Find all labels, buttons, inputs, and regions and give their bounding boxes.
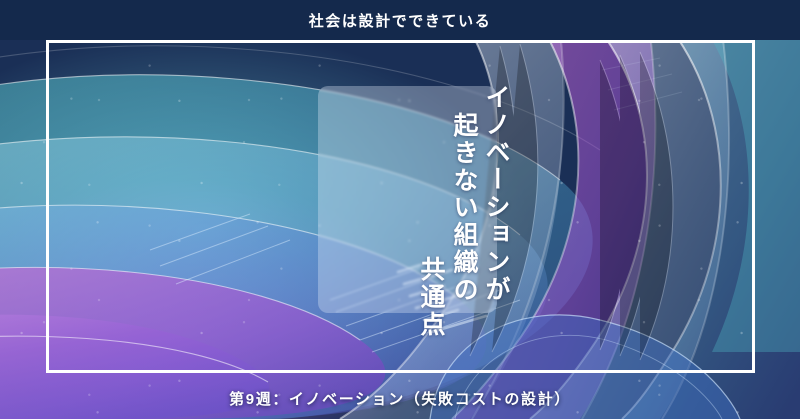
- main-title-line-2: 起きない組織の: [451, 112, 476, 304]
- thumbnail-canvas: イノベーションが 起きない組織の 共通点 社会は設計でできている 第9週：イノベ…: [0, 0, 800, 419]
- main-title: イノベーションが 起きない組織の 共通点: [300, 84, 510, 336]
- main-title-line-3: 共通点: [418, 256, 443, 338]
- main-title-line-1: イノベーションが: [483, 84, 508, 303]
- series-caption: 社会は設計でできている: [0, 10, 800, 31]
- episode-caption: 第9週：イノベーション（失敗コストの設計）: [0, 388, 800, 409]
